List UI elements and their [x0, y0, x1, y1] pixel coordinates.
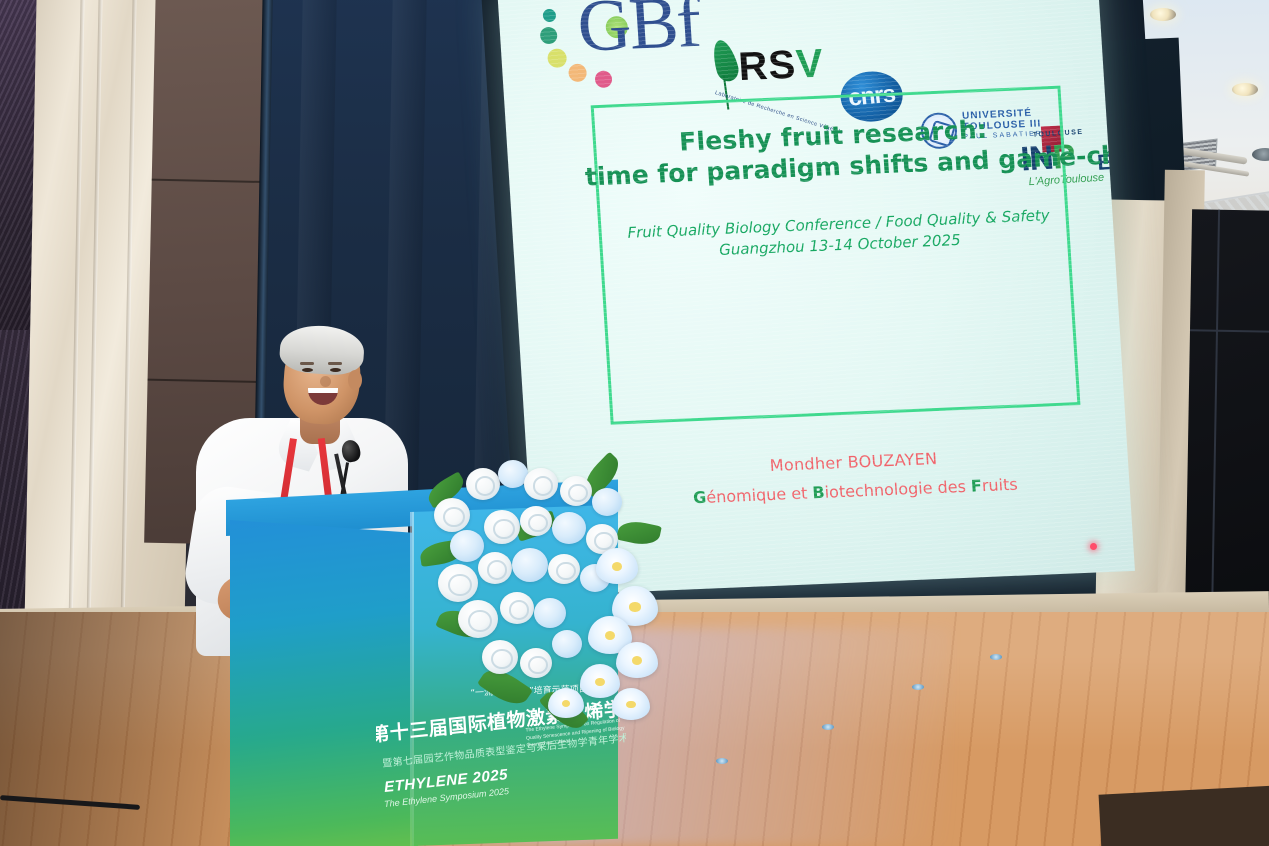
stage-edge-shadow: [1099, 785, 1269, 846]
rsv-v-letter: V: [795, 42, 825, 87]
floor-socket: [990, 654, 1002, 660]
lab-text-1: énomique et: [706, 483, 813, 506]
white-rose: [434, 498, 470, 532]
speaker-eye-right: [330, 368, 341, 372]
floor-socket: [822, 724, 834, 730]
lab-text-3: ruits: [981, 475, 1018, 495]
blue-orchid: [580, 664, 620, 698]
laser-pointer-dot: [1090, 543, 1097, 550]
white-rose: [484, 510, 520, 544]
white-rose: [478, 552, 512, 584]
speaker-eyebrow-left: [300, 362, 314, 365]
gbf-dot: [595, 70, 613, 88]
white-rose: [548, 554, 580, 584]
blue-orchid: [596, 548, 638, 584]
blue-rose: [592, 488, 622, 516]
blue-rose: [450, 530, 484, 562]
white-rose: [520, 506, 552, 536]
gbf-logo-text: GBf: [575, 0, 701, 64]
speaker-ear: [348, 370, 362, 390]
foliage-leaf: [616, 518, 662, 548]
column-groove: [67, 0, 84, 689]
gbf-dot: [543, 9, 557, 23]
slide-author-block: Mondher BOUZAYEN Génomique et Biotechnol…: [603, 442, 1106, 511]
window-mullion: [1190, 329, 1269, 333]
white-rose: [560, 476, 592, 506]
lab-text-2: iotechnologie des: [824, 477, 972, 502]
floor-socket: [716, 758, 728, 764]
blue-orchid: [548, 688, 584, 718]
blue-orchid: [612, 688, 650, 720]
speaker-eyebrow-right: [328, 362, 342, 365]
gbf-dot: [547, 48, 567, 68]
blue-rose: [534, 598, 566, 628]
blue-rose: [512, 548, 548, 582]
white-rose: [520, 648, 552, 678]
ceiling-downlight: [1232, 83, 1258, 96]
presentation-photo-scene: GBf RSV Laboratoire de Recherche en Scie…: [0, 0, 1269, 846]
blue-rose: [552, 630, 582, 658]
speaker-nose: [320, 376, 331, 387]
ceiling-downlight: [1150, 8, 1176, 21]
rsv-logo-text: RSV: [737, 42, 825, 90]
blue-rose: [552, 512, 586, 544]
gbf-dot: [540, 27, 558, 45]
gbf-logo: GBf: [538, 0, 714, 91]
floor-socket: [912, 684, 924, 690]
white-rose: [466, 468, 500, 500]
column-groove: [85, 0, 102, 690]
white-rose: [438, 564, 478, 602]
speaker-hair: [278, 323, 365, 377]
white-rose: [458, 600, 498, 638]
speaker-eye-left: [302, 368, 313, 372]
white-rose: [524, 468, 558, 500]
column-groove: [119, 0, 136, 690]
blue-orchid: [616, 642, 658, 678]
white-rose: [500, 592, 534, 624]
white-rose: [482, 640, 518, 674]
slide-title-block: Fleshy fruit research: time for paradigm…: [582, 111, 1090, 265]
lab-letter-g: G: [693, 488, 707, 508]
floral-arrangement: [420, 452, 670, 728]
